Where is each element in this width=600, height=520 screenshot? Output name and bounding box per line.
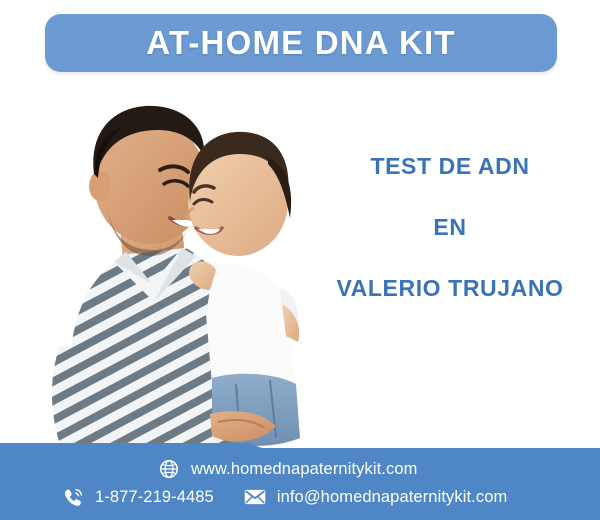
footer-contact-row: 1-877-219-4485 info@homednapaternitykit.… (62, 486, 507, 508)
footer: www.homednapaternitykit.com 1-877-219-44… (0, 440, 600, 520)
headline-line-1: TEST DE ADN (310, 155, 590, 178)
headline-block: TEST DE ADN EN VALERIO TRUJANO (310, 155, 590, 300)
page-title: AT-HOME DNA KIT (146, 24, 455, 62)
dna-kit-banner: AT-HOME DNA KIT (0, 0, 600, 520)
phone-icon (62, 486, 84, 508)
footer-website-row: www.homednapaternitykit.com (158, 458, 417, 480)
globe-icon (158, 458, 180, 480)
footer-website[interactable]: www.homednapaternitykit.com (158, 458, 417, 480)
footer-email[interactable]: info@homednapaternitykit.com (244, 486, 508, 508)
footer-email-label: info@homednapaternitykit.com (277, 488, 508, 507)
footer-phone[interactable]: 1-877-219-4485 (62, 486, 214, 508)
family-photo (0, 78, 330, 450)
headline-line-3: VALERIO TRUJANO (310, 277, 590, 300)
header-title-pill: AT-HOME DNA KIT (45, 14, 557, 72)
headline-line-2: EN (310, 216, 590, 239)
envelope-icon (244, 486, 266, 508)
footer-website-label: www.homednapaternitykit.com (191, 460, 417, 479)
footer-phone-label: 1-877-219-4485 (95, 488, 214, 507)
